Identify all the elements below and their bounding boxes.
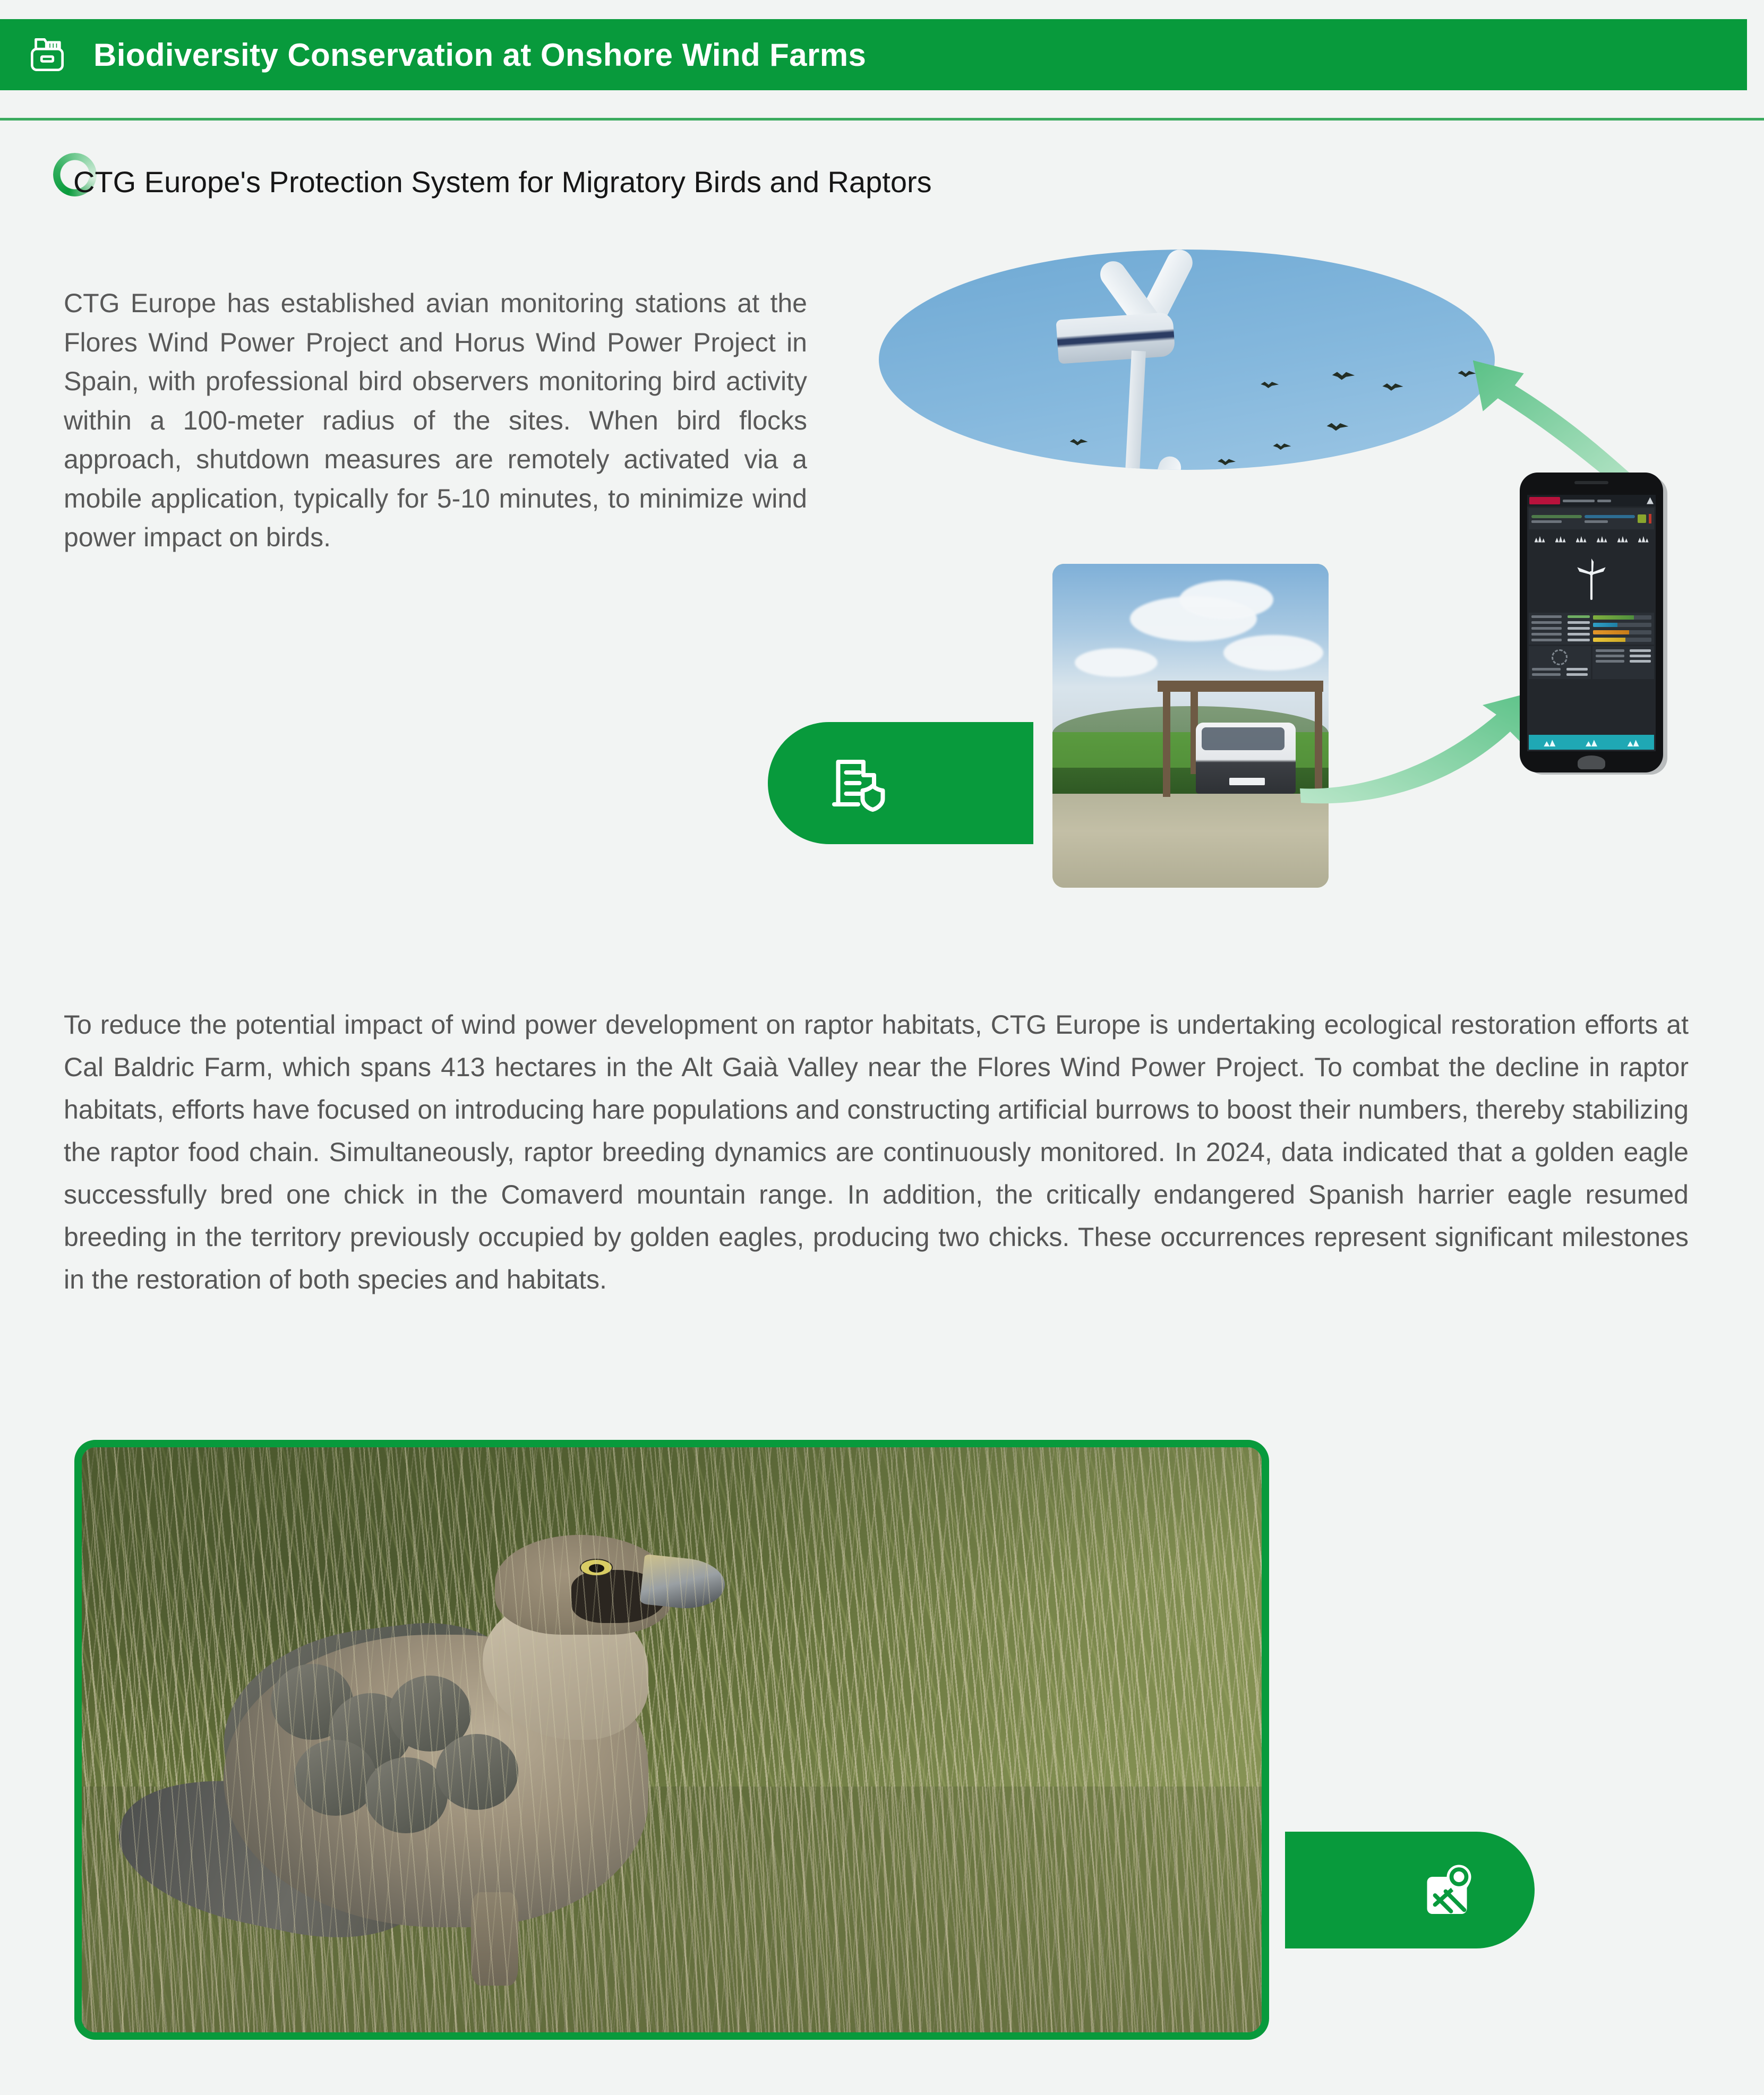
turbine-detail-panels <box>1529 646 1654 679</box>
reading-label <box>1596 649 1624 652</box>
shelter-post <box>1163 690 1170 797</box>
gauge-panel <box>1529 646 1591 679</box>
gauge-value <box>1566 668 1588 671</box>
reading-value <box>1630 660 1651 663</box>
status-label <box>1585 520 1608 523</box>
metric-value <box>1568 633 1590 636</box>
map-pin-icon <box>1418 1858 1482 1922</box>
eagle-feather <box>436 1734 519 1810</box>
gauge-label <box>1532 668 1561 671</box>
spanish-harrier-eagle-photo <box>74 1440 1269 2040</box>
license-plate <box>1229 778 1265 786</box>
phone-screen <box>1527 495 1656 751</box>
app-top-bar <box>1527 495 1656 506</box>
reading-value <box>1630 649 1651 652</box>
eagle-feather <box>365 1757 448 1833</box>
gauge-value <box>1566 673 1588 676</box>
metric-value <box>1568 627 1590 630</box>
archive-box-icon <box>24 32 70 78</box>
app-title-placeholder <box>1563 500 1595 502</box>
tab-list-icon[interactable] <box>1628 738 1639 746</box>
eagle-pupil <box>589 1564 604 1572</box>
app-logo <box>1529 497 1560 504</box>
intro-paragraph: CTG Europe has established avian monitor… <box>64 284 807 557</box>
turbine-icon[interactable] <box>1555 535 1566 543</box>
phone-home-button[interactable] <box>1578 755 1605 769</box>
eagle-photo-canvas <box>82 1447 1262 2032</box>
eagle-feather <box>294 1740 377 1816</box>
status-bar-green <box>1531 515 1582 518</box>
progress-bar-yellow <box>1593 638 1651 642</box>
cloud <box>1179 580 1273 619</box>
metric-value <box>1568 639 1590 641</box>
arrow-van-to-phone <box>1296 664 1545 839</box>
sky-background <box>879 250 1495 470</box>
van-windshield <box>1202 727 1285 750</box>
status-chip-red <box>1649 514 1651 523</box>
app-tab-bar[interactable] <box>1529 735 1654 750</box>
mobile-shutdown-app-mockup <box>1520 473 1663 772</box>
status-bar-blue <box>1585 515 1635 518</box>
wind-turbine-with-migrating-birds-photo <box>879 250 1495 470</box>
phone-speaker <box>1574 481 1608 484</box>
section-title: CTG Europe's Protection System for Migra… <box>73 165 932 199</box>
report-icon[interactable] <box>1638 535 1649 543</box>
map-icon[interactable] <box>1576 535 1587 543</box>
metric-value <box>1568 621 1590 624</box>
metric-status <box>1568 615 1590 618</box>
metric-label <box>1531 633 1562 636</box>
tab-turbine-icon[interactable] <box>1544 738 1555 746</box>
body-paragraph: To reduce the potential impact of wind p… <box>64 1003 1689 1301</box>
tab-chart-icon[interactable] <box>1586 738 1597 746</box>
eagle-leg <box>471 1892 518 1986</box>
turbine-illustration <box>1527 547 1656 611</box>
readings-panel <box>1592 646 1655 679</box>
status-chip-green <box>1638 514 1646 523</box>
turbine-metrics-panel <box>1529 613 1654 645</box>
document-shield-icon <box>824 751 887 815</box>
reading-label <box>1596 655 1624 657</box>
progress-bar-orange <box>1593 630 1651 634</box>
home-icon[interactable] <box>1535 535 1545 543</box>
metric-label <box>1531 639 1562 641</box>
gauge-label <box>1532 673 1561 676</box>
reading-value <box>1630 655 1651 657</box>
status-summary-row <box>1529 508 1654 529</box>
metric-label <box>1531 621 1562 624</box>
gravel-ground <box>1052 794 1329 888</box>
progress-bar-blue <box>1593 623 1651 627</box>
app-nav-icons[interactable] <box>1527 529 1656 547</box>
progress-bar-green <box>1593 615 1651 620</box>
cloud <box>1075 648 1158 677</box>
turbine-nacelle <box>1056 312 1176 364</box>
page-header: Biodiversity Conservation at Onshore Win… <box>0 19 1747 90</box>
alert-icon[interactable] <box>1647 497 1654 504</box>
header-divider <box>0 118 1764 121</box>
monitoring-station-vehicle-photo <box>1052 564 1329 888</box>
status-label <box>1531 520 1562 523</box>
warning-icon[interactable] <box>1617 535 1628 543</box>
metric-label <box>1531 615 1562 618</box>
circular-gauge <box>1552 649 1568 665</box>
document-shield-badge <box>768 722 1033 844</box>
metric-label <box>1531 627 1562 630</box>
map-location-badge <box>1285 1832 1535 1948</box>
app-subtitle-placeholder <box>1597 500 1611 502</box>
page-title: Biodiversity Conservation at Onshore Win… <box>93 37 866 73</box>
reading-label <box>1596 660 1624 663</box>
chart-icon[interactable] <box>1597 535 1607 543</box>
